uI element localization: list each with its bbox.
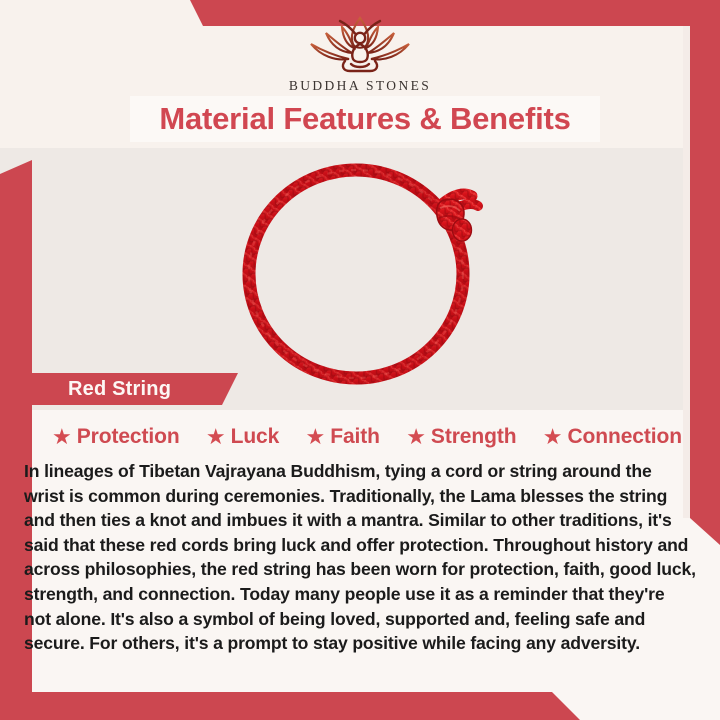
- star-icon: ★: [306, 426, 326, 448]
- right-red-inner-gap: [683, 26, 690, 518]
- benefit-label: Luck: [231, 425, 280, 449]
- benefit-label: Strength: [431, 425, 517, 449]
- benefit-item: ★ Protection: [52, 425, 180, 449]
- star-icon: ★: [206, 426, 226, 448]
- benefit-label: Connection: [567, 425, 682, 449]
- star-icon: ★: [52, 426, 72, 448]
- brand-logo: BUDDHA STONES: [0, 14, 720, 94]
- benefit-label: Protection: [77, 425, 180, 449]
- benefits-row: ★ Protection ★ Luck ★ Faith ★ Strength ★…: [52, 420, 682, 454]
- section-tab-red-string: Red String: [26, 373, 238, 405]
- lotus-meditation-icon: [0, 14, 720, 76]
- benefit-item: ★ Luck: [206, 425, 279, 449]
- bottom-red-banner: [0, 692, 580, 720]
- product-image-red-string-bracelet: [228, 152, 500, 387]
- brand-name: BUDDHA STONES: [0, 78, 720, 94]
- infographic-page: BUDDHA STONES Material Features & Benefi…: [0, 0, 720, 720]
- benefit-item: ★ Faith: [306, 425, 380, 449]
- benefit-label: Faith: [330, 425, 380, 449]
- section-tab-label: Red String: [68, 378, 171, 401]
- benefit-item: ★ Connection: [543, 425, 682, 449]
- page-title-plate: Material Features & Benefits: [130, 96, 600, 142]
- benefit-item: ★ Strength: [406, 425, 516, 449]
- star-icon: ★: [543, 426, 563, 448]
- page-title: Material Features & Benefits: [159, 101, 570, 137]
- description-paragraph: In lineages of Tibetan Vajrayana Buddhis…: [24, 459, 696, 656]
- star-icon: ★: [406, 426, 426, 448]
